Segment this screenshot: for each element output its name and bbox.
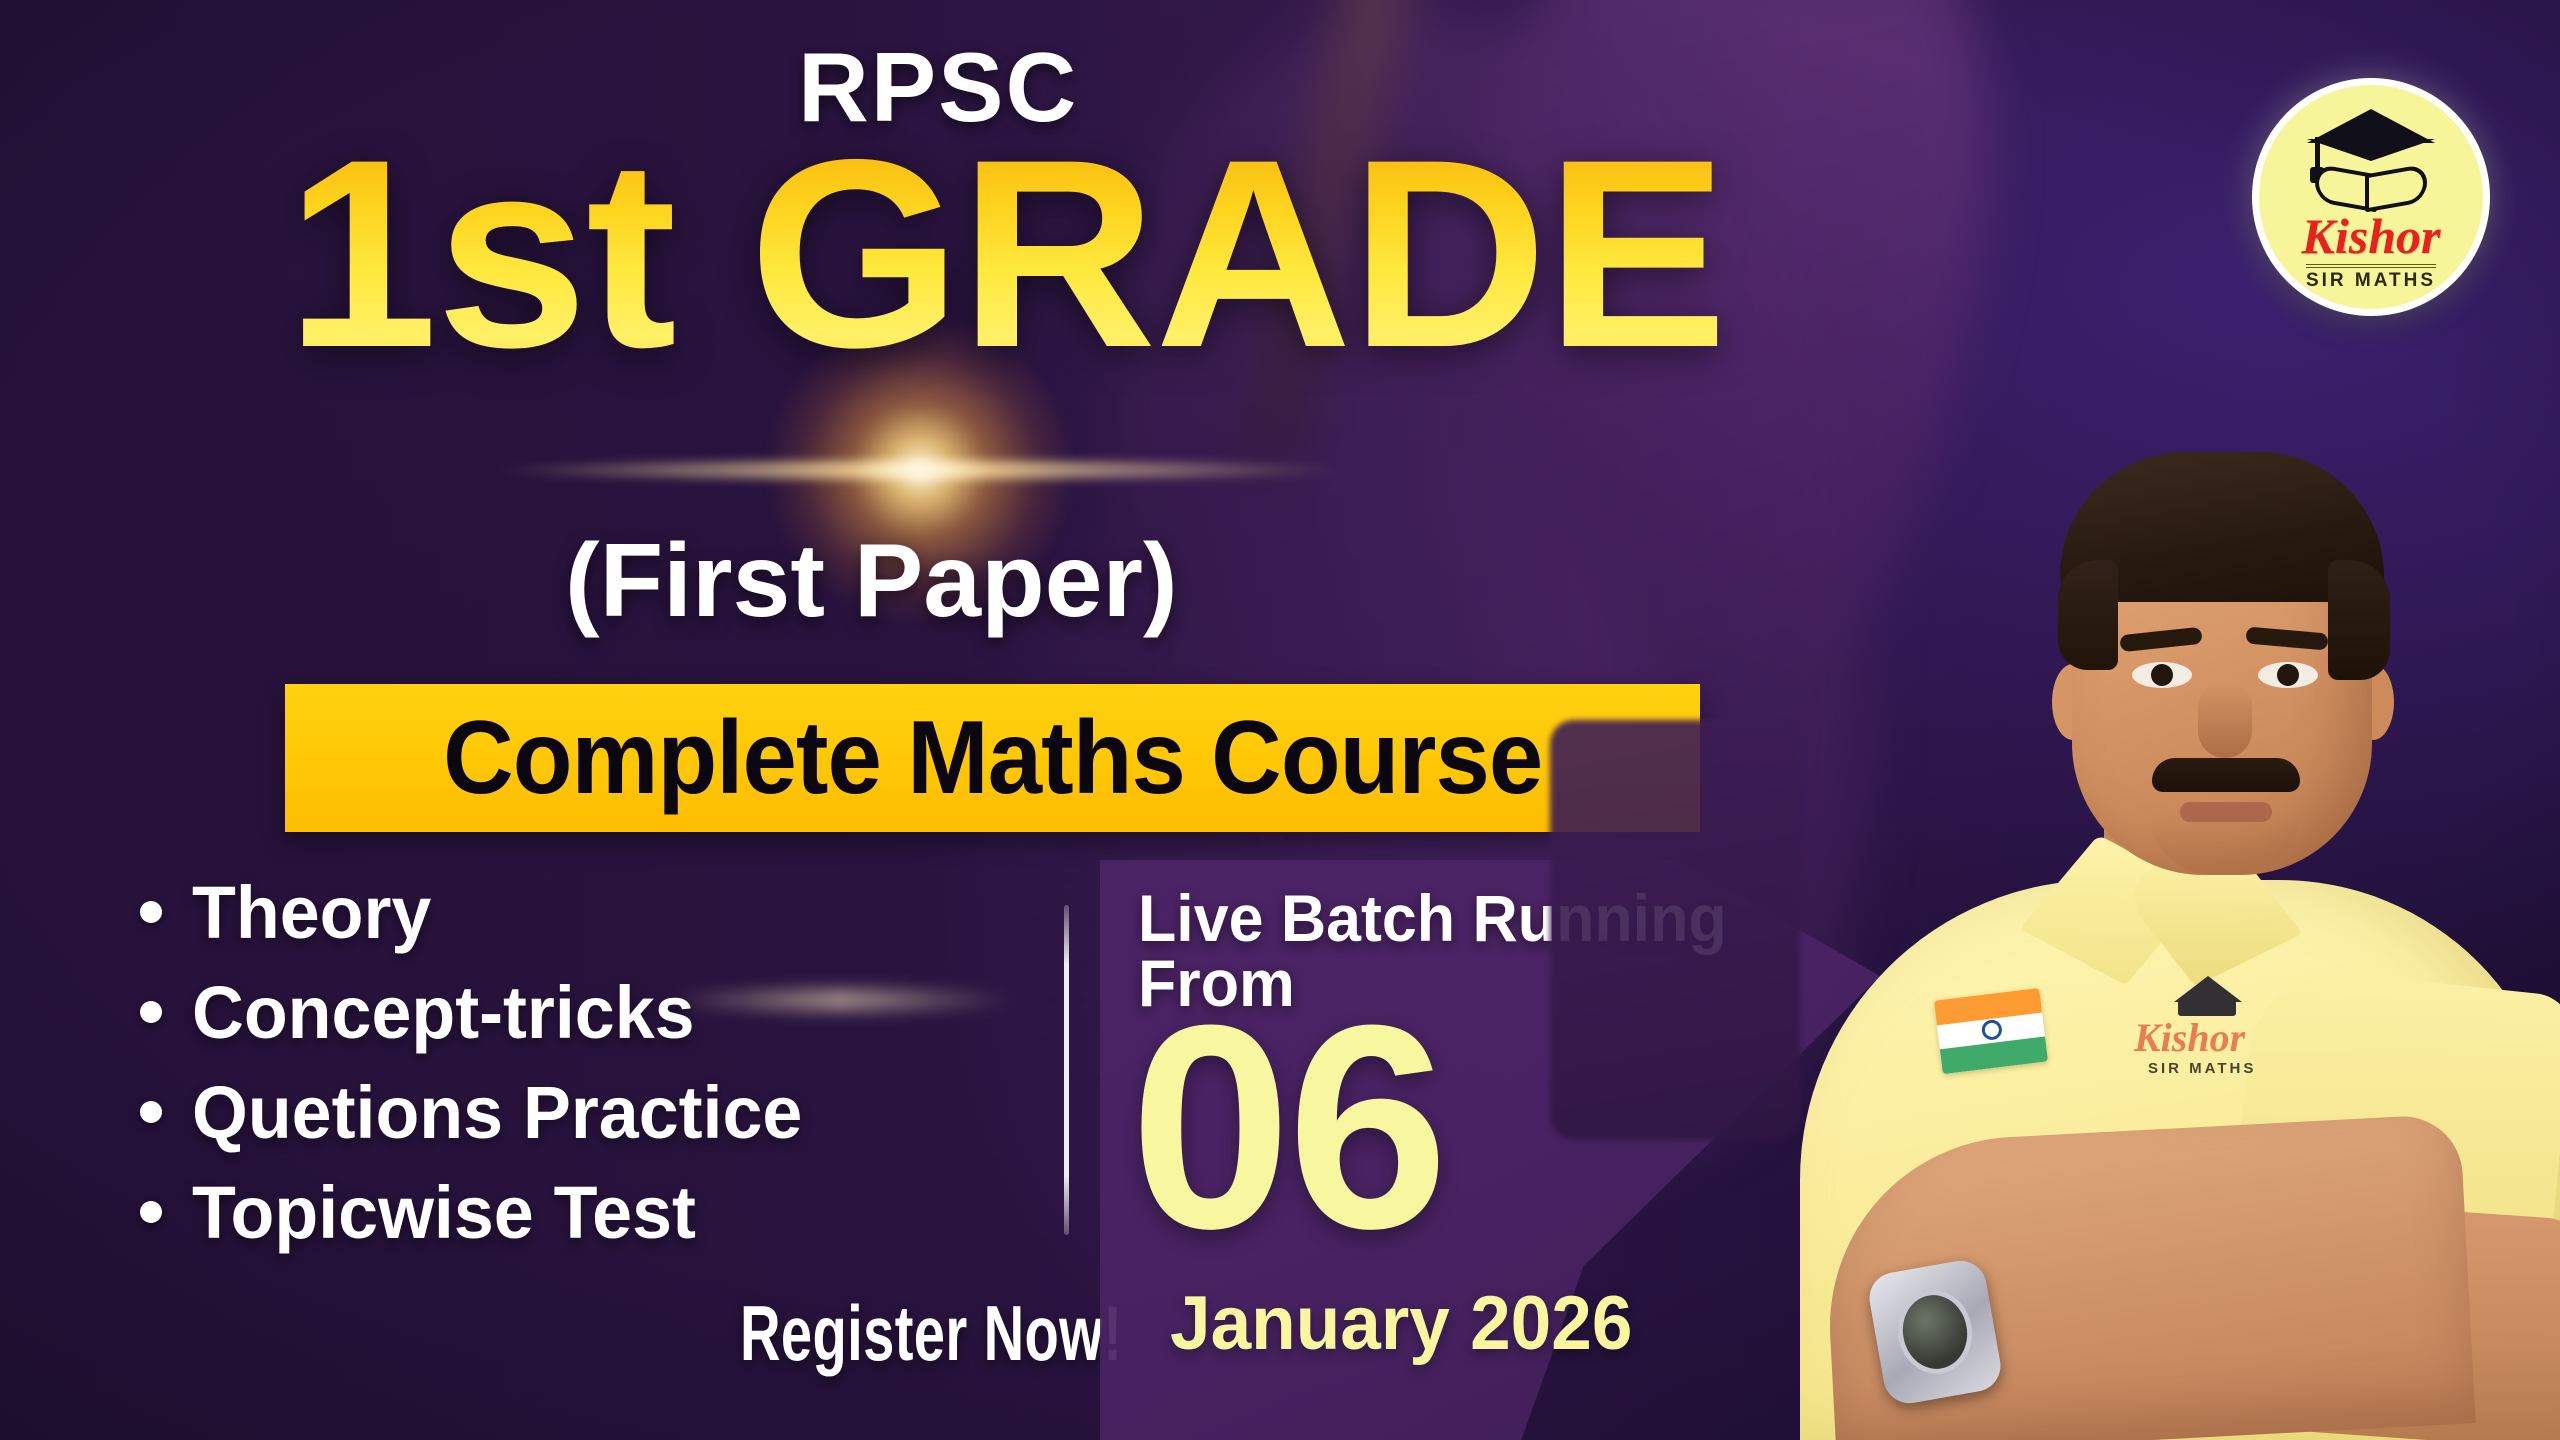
brand-tagline: SIR MATHS <box>2306 264 2436 292</box>
instructor-eye-left <box>2132 662 2192 688</box>
instructor-hair-side-right <box>2328 560 2390 680</box>
subtitle: (First Paper) <box>565 522 1178 641</box>
register-now-cta[interactable]: Register Now! <box>740 1288 1122 1379</box>
bullet-dot-icon <box>140 1201 162 1223</box>
instructor-mustache <box>2152 758 2300 792</box>
feature-label: Quetions Practice <box>192 1070 802 1155</box>
instructor-hair-side-left <box>2058 560 2118 670</box>
instructor-photo: Kishor SIR MATHS <box>1680 170 2560 1440</box>
watch-face-icon <box>1891 1284 1978 1380</box>
feature-list: Theory Concept-tricks Quetions Practice … <box>140 862 1020 1262</box>
shirt-logo: Kishor SIR MATHS <box>2128 976 2298 1088</box>
list-item: Quetions Practice <box>140 1062 1020 1162</box>
brand-name: Kishor <box>2302 211 2441 261</box>
brand-logo-badge: Kishor SIR MATHS <box>2252 78 2490 316</box>
shirt-logo-tagline: SIR MATHS <box>2148 1060 2256 1077</box>
bullet-dot-icon <box>140 1001 162 1023</box>
feature-label: Topicwise Test <box>192 1170 696 1255</box>
background-chair <box>1550 720 1800 1140</box>
course-title-bar: Complete Maths Course <box>285 684 1700 832</box>
graduation-cap-base-icon <box>2178 1000 2236 1016</box>
page-title: 1st GRADE <box>286 128 1726 380</box>
instructor-nose <box>2198 684 2252 758</box>
feature-label: Concept-tricks <box>192 970 695 1055</box>
graduation-cap-icon <box>2307 109 2435 175</box>
vertical-divider <box>1064 905 1069 1235</box>
bullet-dot-icon <box>140 1101 162 1123</box>
list-item: Concept-tricks <box>140 962 1020 1062</box>
instructor-lips <box>2180 802 2272 822</box>
batch-day: 06 <box>1130 1000 1445 1255</box>
course-promo-banner: RPSC 1st GRADE (First Paper) Complete Ma… <box>0 0 2560 1440</box>
list-item: Topicwise Test <box>140 1162 1020 1262</box>
india-flag-patch-icon <box>1934 988 2048 1074</box>
instructor-eye-right <box>2258 662 2318 688</box>
wristwatch <box>1865 1257 2004 1407</box>
list-item: Theory <box>140 862 1020 962</box>
feature-label: Theory <box>192 870 431 955</box>
batch-month-year: January 2026 <box>1170 1280 1632 1367</box>
graduation-cap-icon <box>2174 976 2242 1002</box>
shirt-logo-brand: Kishor <box>2134 1018 2245 1058</box>
open-book-icon <box>2315 169 2427 203</box>
bullet-dot-icon <box>140 901 162 923</box>
course-title-text: Complete Maths Course <box>443 699 1542 818</box>
